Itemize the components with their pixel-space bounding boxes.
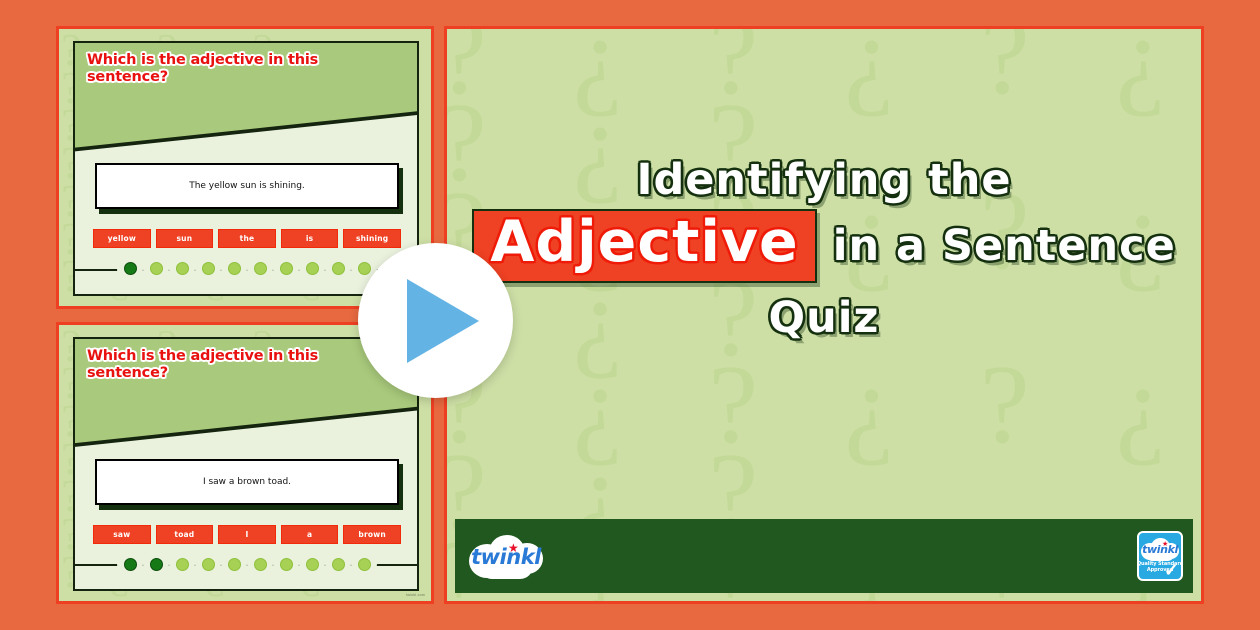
- progress-dot: [306, 262, 319, 275]
- answer-option-button[interactable]: a: [281, 525, 339, 544]
- progress-dot: [358, 262, 371, 275]
- thumbnail-sentence-text: The yellow sun is shining.: [95, 163, 399, 209]
- progress-dot-holder: [299, 553, 325, 575]
- title-line-2: in a Sentence: [833, 223, 1176, 269]
- progress-dot-holder: [117, 258, 143, 280]
- progress-dot: [358, 558, 371, 571]
- answer-option-button[interactable]: brown: [343, 525, 401, 544]
- thumbnail-progress-dots: [75, 258, 417, 280]
- progress-dot-holder: [273, 258, 299, 280]
- progress-dot: [306, 558, 319, 571]
- progress-dot-holder: [299, 258, 325, 280]
- progress-dot-holder: [195, 258, 221, 280]
- progress-dot-holder: [351, 553, 377, 575]
- progress-dot: [124, 262, 137, 275]
- title-line-1: Identifying the: [447, 157, 1201, 203]
- thumbnail-credit-text: twinkl.com: [406, 593, 425, 597]
- thumbnail-sentence-box: I saw a brown toad.: [95, 459, 399, 505]
- twinkl-cloud-logo: ★ twinkl: [463, 531, 549, 581]
- progress-dot: [254, 558, 267, 571]
- thumbnail-question-text: Which is the adjective in this sentence?: [87, 52, 374, 86]
- progress-dot: [176, 558, 189, 571]
- answer-option-button[interactable]: toad: [156, 525, 214, 544]
- progress-dot: [228, 558, 241, 571]
- progress-dot: [150, 262, 163, 275]
- thumbnail-slide-body: Which is the adjective in this sentence?…: [73, 41, 419, 296]
- adjective-highlight-word: Adjective: [490, 209, 799, 275]
- answer-option-button[interactable]: yellow: [93, 229, 151, 248]
- slide-thumbnail-1[interactable]: ? ¿ ? ¿ ? ¿? ¿ ? ¿ ? ¿? ¿ ? ¿ ? ¿? ¿ ? ¿…: [56, 26, 434, 309]
- progress-dot-holder: [221, 553, 247, 575]
- progress-dot: [176, 262, 189, 275]
- thumbnail-sentence-text: I saw a brown toad.: [95, 459, 399, 505]
- title-line-3: Quiz: [447, 295, 1201, 341]
- progress-dot: [202, 262, 215, 275]
- thumbnail-answer-options: yellowsuntheisshining: [93, 229, 401, 248]
- play-video-button[interactable]: [358, 243, 513, 398]
- answer-option-button[interactable]: I: [218, 525, 276, 544]
- badge-logo-text: twinkl: [1140, 543, 1180, 556]
- title-middle-row: Adjective in a Sentence: [447, 209, 1201, 283]
- thumbnail-question-text: Which is the adjective in this sentence?: [87, 348, 374, 382]
- progress-dot: [254, 262, 267, 275]
- thumbnail-answer-options: sawtoadIabrown: [93, 525, 401, 544]
- progress-dot-holder: [325, 258, 351, 280]
- answer-option-button[interactable]: shining: [343, 229, 401, 248]
- progress-dot-holder: [169, 258, 195, 280]
- answer-option-button[interactable]: the: [218, 229, 276, 248]
- progress-dot: [280, 558, 293, 571]
- thumbnail-sentence-box: The yellow sun is shining.: [95, 163, 399, 209]
- answer-option-button[interactable]: sun: [156, 229, 214, 248]
- main-slide-preview[interactable]: ? ¿ ? ¿ ? ¿ ? ¿ ?? ¿ ? ¿ ? ¿ ? ¿ ?? ¿ ? …: [444, 26, 1204, 604]
- adjective-highlight-box: Adjective: [472, 209, 817, 283]
- progress-dot: [202, 558, 215, 571]
- play-triangle-icon: [407, 279, 479, 363]
- progress-dot: [332, 262, 345, 275]
- slide-title-block: Identifying the Adjective in a Sentence …: [447, 157, 1201, 342]
- badge-cloud-icon: ★ twinkl: [1140, 537, 1180, 561]
- progress-dot-holder: [195, 553, 221, 575]
- progress-dot-holder: [273, 553, 299, 575]
- quality-standard-approved-badge: ★ twinkl Quality Standard Approved ✓: [1137, 531, 1183, 581]
- progress-dot-holder: [169, 553, 195, 575]
- progress-dot: [332, 558, 345, 571]
- checkmark-icon: ✓: [1164, 561, 1179, 579]
- progress-dot: [228, 262, 241, 275]
- progress-dot: [124, 558, 137, 571]
- progress-dot: [280, 262, 293, 275]
- thumbnail-slide-body: Which is the adjective in this sentence?…: [73, 337, 419, 592]
- slide-footer-bar: ★ twinkl ★ twinkl Quality Standard Appro…: [455, 519, 1193, 593]
- progress-dot-holder: [117, 553, 143, 575]
- twinkl-logo-text: twinkl: [463, 545, 549, 569]
- progress-dot-holder: [247, 258, 273, 280]
- progress-dot-holder: [143, 258, 169, 280]
- star-icon: ★: [1162, 540, 1168, 548]
- progress-dot-holder: [247, 553, 273, 575]
- answer-option-button[interactable]: is: [281, 229, 339, 248]
- progress-dot-holder: [143, 553, 169, 575]
- thumbnail-progress-dots: [75, 553, 417, 575]
- star-icon: ★: [508, 541, 519, 555]
- progress-dot-holder: [325, 553, 351, 575]
- progress-dot-holder: [221, 258, 247, 280]
- progress-dot: [150, 558, 163, 571]
- answer-option-button[interactable]: saw: [93, 525, 151, 544]
